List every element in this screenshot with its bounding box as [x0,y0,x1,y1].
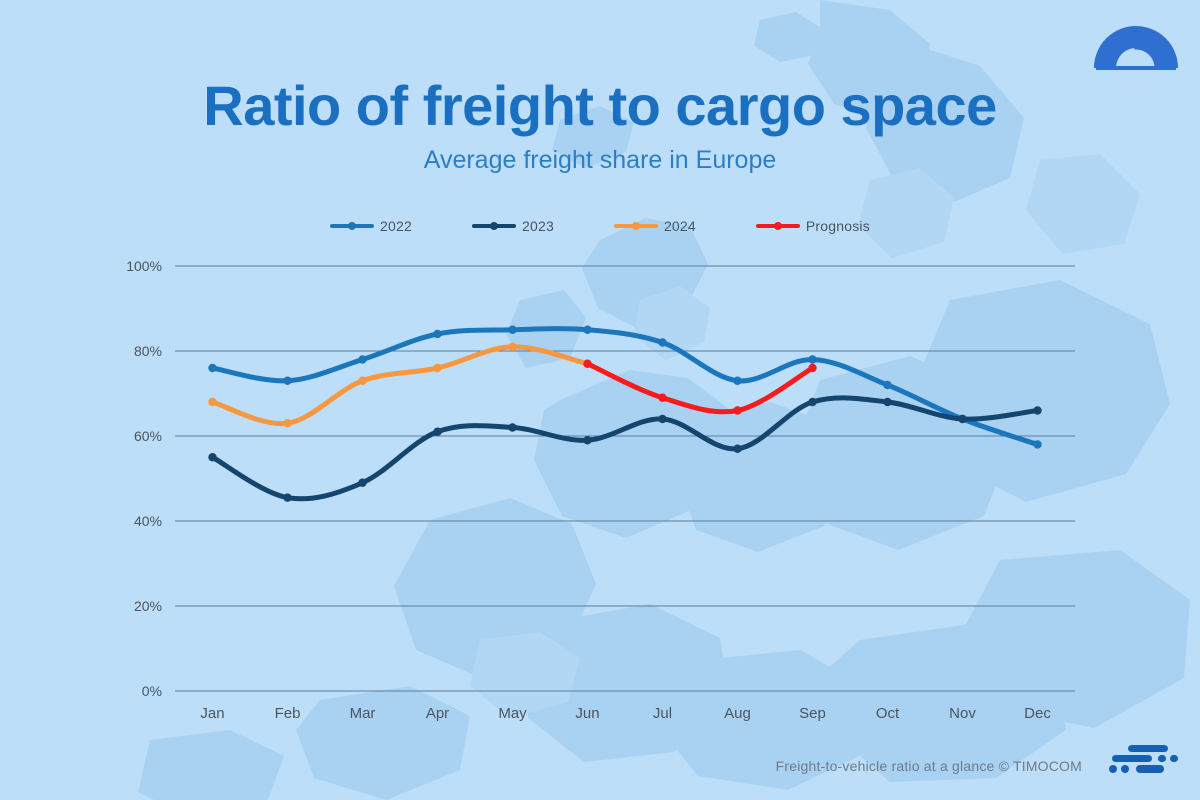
series-2023 [208,398,1041,502]
legend-item-2024[interactable]: 2024 [614,218,696,234]
series-2024 [208,343,591,428]
y-axis-tick-label: 80% [134,343,162,359]
data-point[interactable] [283,419,291,427]
data-point[interactable] [808,355,816,363]
data-point[interactable] [358,377,366,385]
y-axis-tick-label: 100% [126,258,162,274]
y-axis-tick-label: 60% [134,428,162,444]
x-axis-tick-label: Aug [724,705,751,722]
data-point[interactable] [508,326,516,334]
x-axis-tick-label: Feb [275,705,301,722]
x-axis-tick-label: Jan [200,705,224,722]
data-point[interactable] [433,364,441,372]
data-point[interactable] [583,360,591,368]
x-axis-tick-label: Apr [426,705,449,722]
data-point[interactable] [733,445,741,453]
data-point[interactable] [1033,406,1041,414]
data-point[interactable] [433,428,441,436]
legend-label: Prognosis [806,218,870,234]
data-point[interactable] [1033,440,1041,448]
legend-swatch-icon [472,220,516,232]
page-subtitle: Average freight share in Europe [0,146,1200,175]
gauge-icon [1090,14,1182,76]
footer-credit: Freight-to-vehicle ratio at a glance © T… [776,758,1082,774]
data-point[interactable] [583,326,591,334]
legend-swatch-icon [614,220,658,232]
data-point[interactable] [658,394,666,402]
data-point[interactable] [733,406,741,414]
data-point[interactable] [208,398,216,406]
data-point[interactable] [208,364,216,372]
x-axis-tick-label: Dec [1024,705,1051,722]
series-line [213,398,1038,499]
x-axis-tick-label: May [498,705,526,722]
legend-label: 2024 [664,218,696,234]
data-point[interactable] [508,343,516,351]
data-point[interactable] [658,415,666,423]
data-point[interactable] [808,398,816,406]
x-axis-tick-label: Nov [949,705,976,722]
y-axis-tick-label: 20% [134,598,162,614]
data-point[interactable] [358,479,366,487]
legend-label: 2023 [522,218,554,234]
chart-legend: 202220232024Prognosis [0,218,1200,234]
x-axis-tick-label: Jul [653,705,672,722]
x-axis-tick-label: Jun [575,705,599,722]
data-point[interactable] [658,338,666,346]
data-point[interactable] [208,453,216,461]
data-point[interactable] [733,377,741,385]
x-axis-tick-label: Mar [350,705,376,722]
x-axis-tick-label: Sep [799,705,826,722]
legend-item-2022[interactable]: 2022 [330,218,412,234]
data-point[interactable] [508,423,516,431]
data-point[interactable] [358,355,366,363]
data-point[interactable] [583,436,591,444]
legend-swatch-icon [330,220,374,232]
page-title: Ratio of freight to cargo space [0,78,1200,134]
data-point[interactable] [433,330,441,338]
y-axis-tick-label: 0% [142,683,162,699]
data-point[interactable] [283,493,291,501]
legend-label: 2022 [380,218,412,234]
infographic-canvas: Ratio of freight to cargo space Average … [0,0,1200,800]
legend-item-prognosis[interactable]: Prognosis [756,218,870,234]
y-axis-tick-label: 40% [134,513,162,529]
data-point[interactable] [883,398,891,406]
data-point[interactable] [808,364,816,372]
data-point[interactable] [958,415,966,423]
timocom-logo-icon [1106,744,1180,778]
legend-item-2023[interactable]: 2023 [472,218,554,234]
legend-swatch-icon [756,220,800,232]
x-axis-tick-label: Oct [876,705,899,722]
data-point[interactable] [283,377,291,385]
series-line [213,347,588,424]
data-point[interactable] [883,381,891,389]
